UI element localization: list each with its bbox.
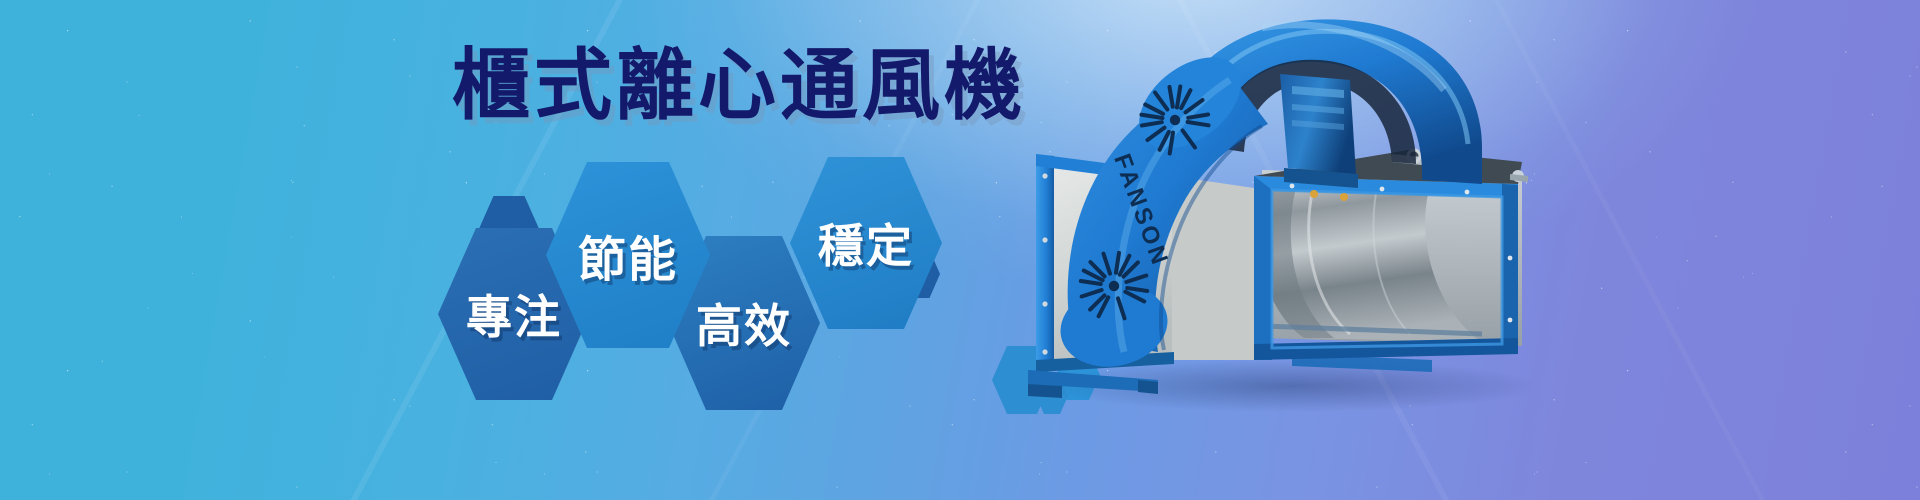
- banner-title: 櫃式離心通風機: [452, 44, 1026, 128]
- feature-label-efficient: 高效: [696, 290, 792, 356]
- earth-surface: [0, 110, 1920, 500]
- feature-hex-stable[interactable]: 穩定: [790, 157, 942, 329]
- earth-cloud-layer: [0, 110, 1920, 500]
- product-image-centrifugal-fan: FANSON: [962, 8, 1602, 400]
- earth-atmosphere-glow: [0, 100, 1920, 500]
- feature-label-stable: 穩定: [818, 210, 914, 276]
- electric-motor: [1280, 74, 1358, 201]
- feature-label-energy: 節能: [578, 220, 678, 290]
- product-banner: 櫃式離心通風機 專注 高效 節能 穩定: [0, 0, 1920, 500]
- feature-label-focus: 專注: [466, 281, 562, 347]
